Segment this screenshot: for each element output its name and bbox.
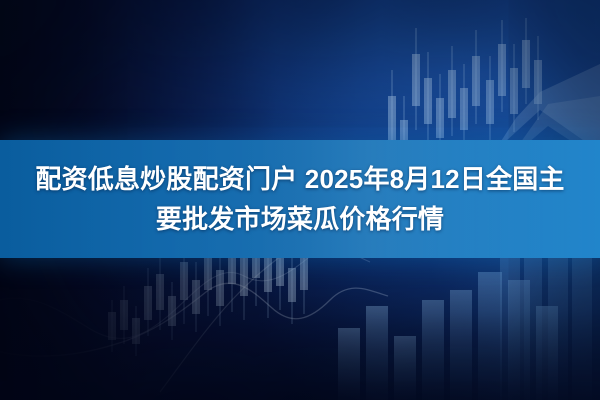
headline-line-2: 要批发市场菜瓜价格行情 [156, 200, 444, 238]
headline-text-block: 配资低息炒股配资门户 2025年8月12日全国主 要批发市场菜瓜价格行情 [0, 140, 600, 258]
financial-news-banner: 配资低息炒股配资门户 2025年8月12日全国主 要批发市场菜瓜价格行情 [0, 0, 600, 400]
headline-line-1: 配资低息炒股配资门户 2025年8月12日全国主 [35, 160, 564, 198]
